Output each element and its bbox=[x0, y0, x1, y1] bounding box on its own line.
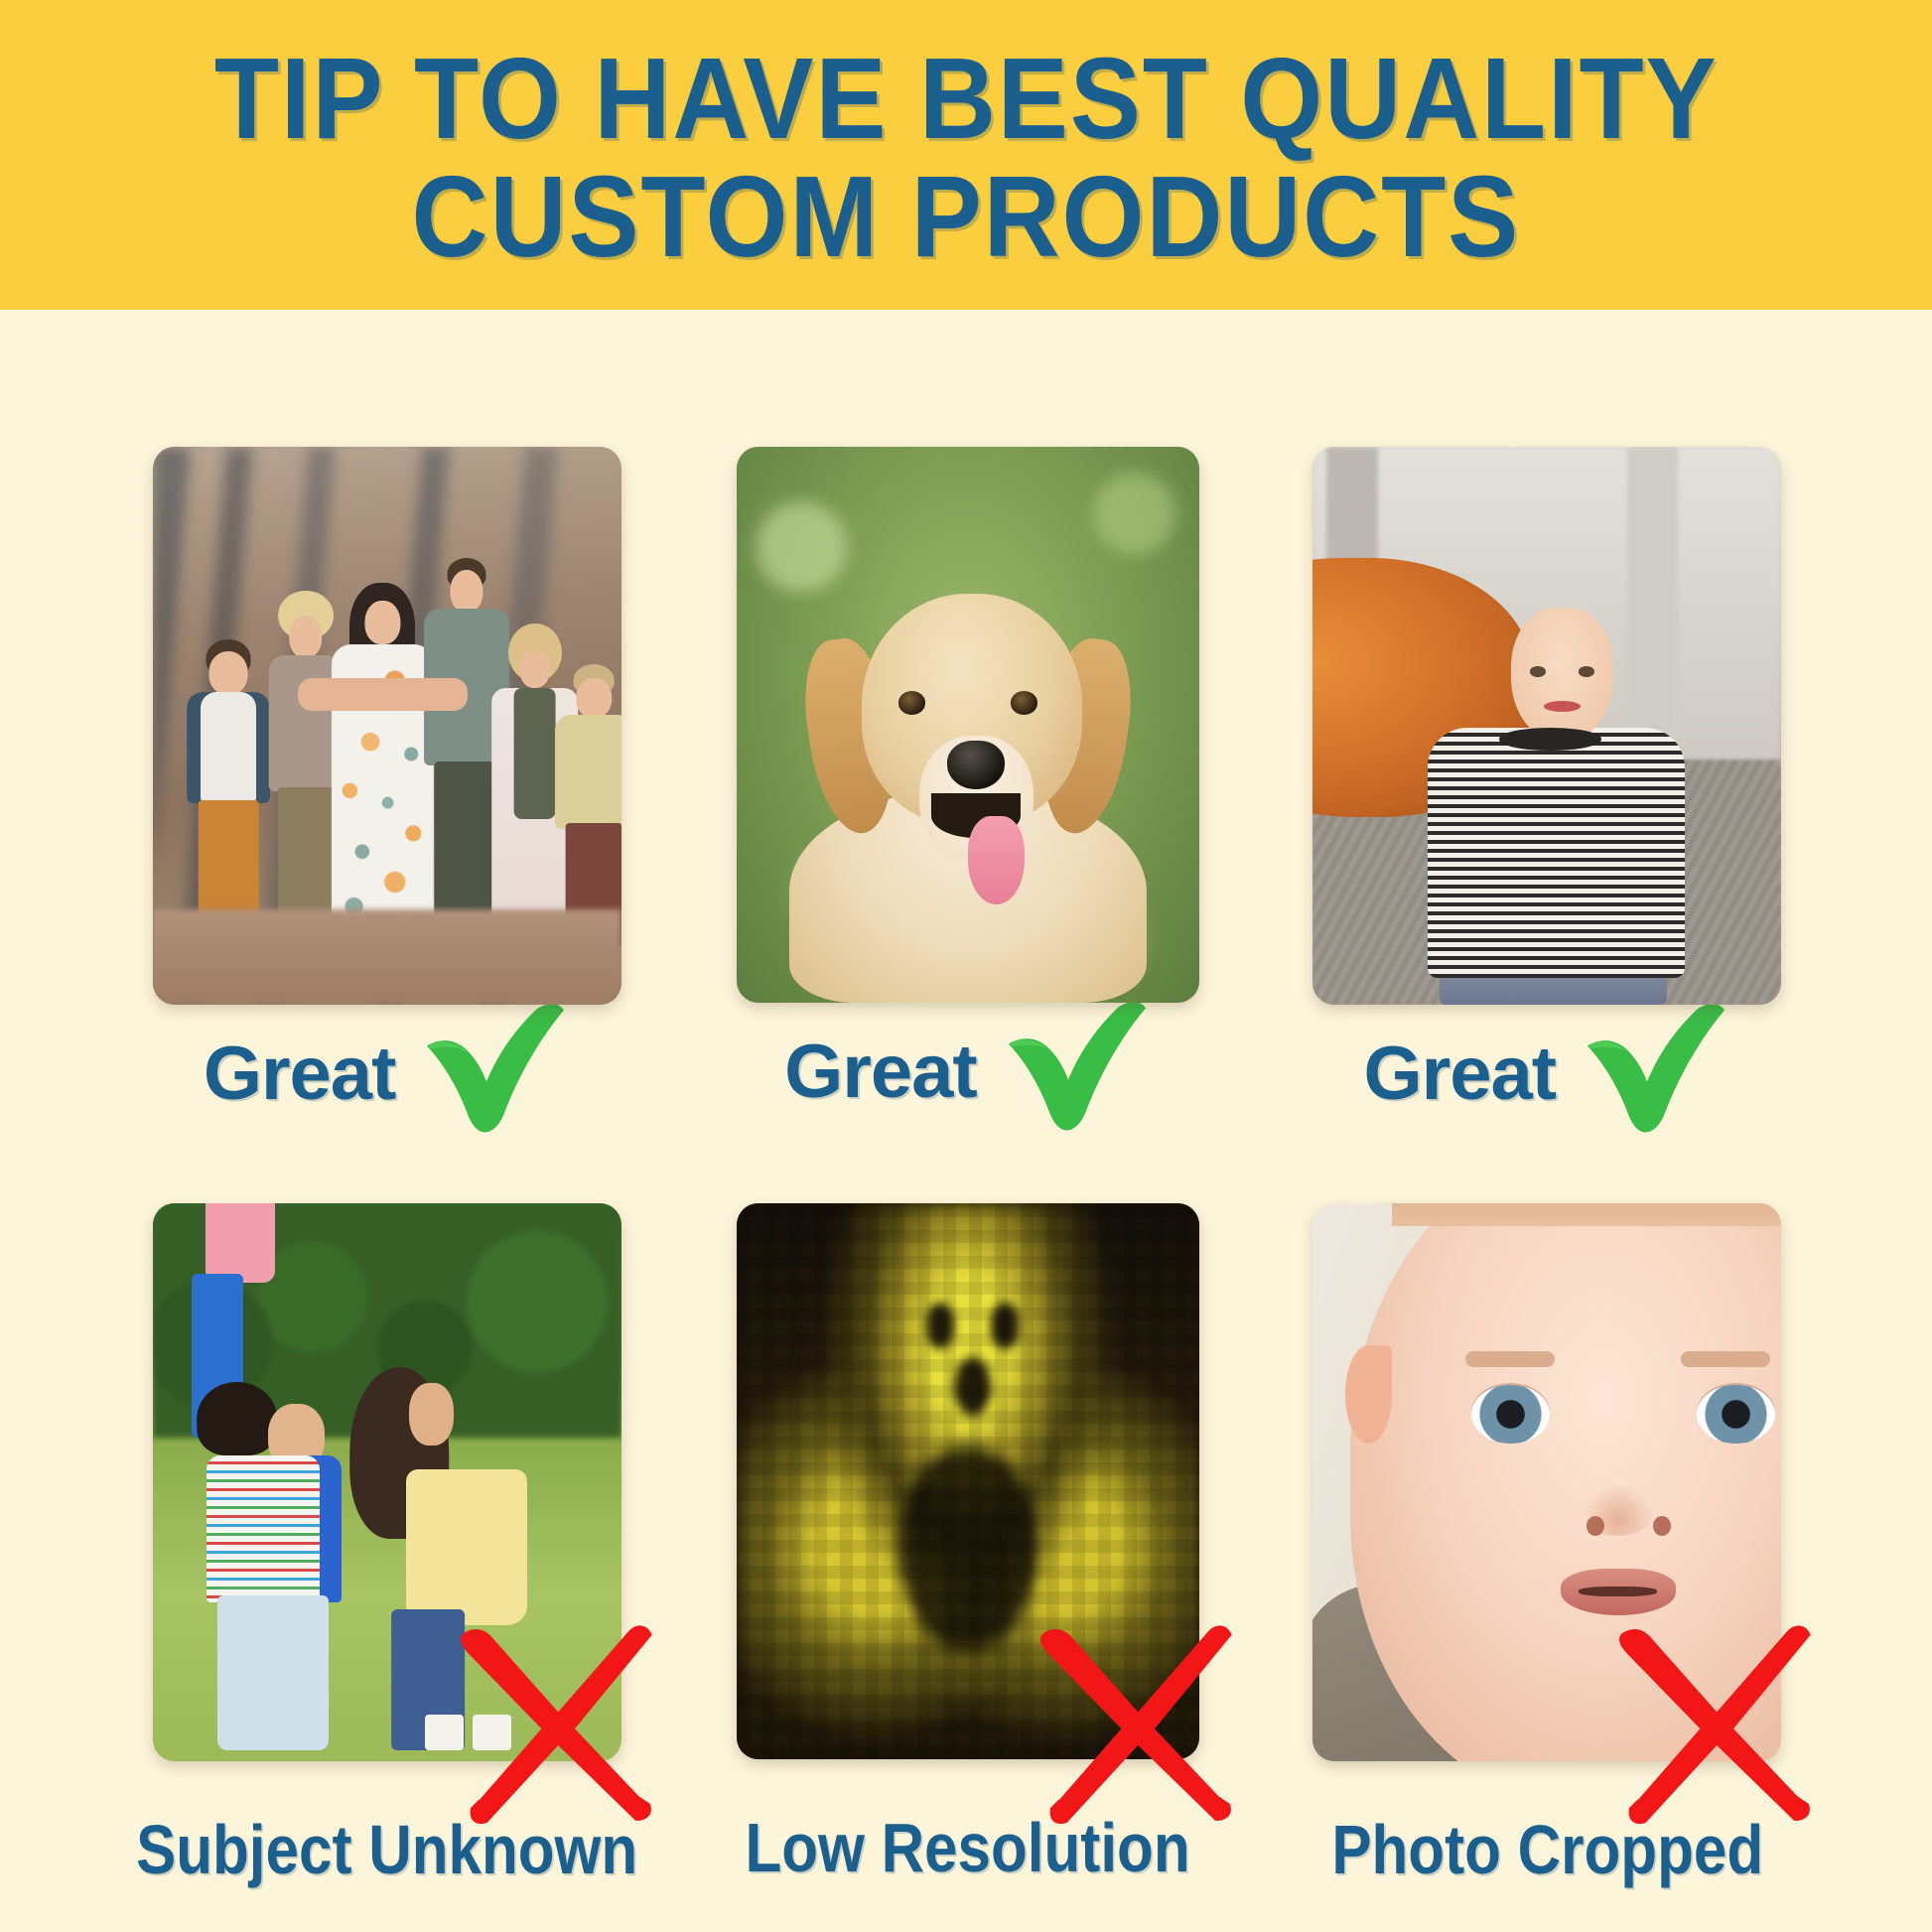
caption-label: Great bbox=[784, 1035, 977, 1110]
photo-low-resolution-dog[interactable] bbox=[737, 1203, 1199, 1759]
caption-label: Low Resolution bbox=[746, 1813, 1190, 1882]
family-member bbox=[550, 664, 621, 949]
woman-subject bbox=[1397, 558, 1697, 1005]
example-cell-family: Great bbox=[95, 310, 678, 1134]
caption-row: Low Resolution bbox=[678, 1793, 1257, 1902]
caption-row: Great bbox=[95, 1015, 678, 1134]
photo-cropped-baby-face[interactable] bbox=[1312, 1203, 1781, 1761]
child-subject bbox=[387, 1359, 546, 1749]
caption-row: Photo Cropped bbox=[1258, 1795, 1837, 1904]
photo-red-haired-woman-portrait[interactable] bbox=[1312, 447, 1781, 1005]
page-title-line-1: TIP TO HAVE BEST QUALITY bbox=[214, 40, 1719, 158]
caption-row: Great bbox=[1258, 1015, 1837, 1134]
check-mark-icon bbox=[421, 1000, 570, 1149]
header-banner: TIP TO HAVE BEST QUALITY CUSTOM PRODUCTS bbox=[0, 0, 1932, 310]
caption-label: Great bbox=[204, 1036, 396, 1112]
photo-family-group-portrait[interactable] bbox=[153, 447, 621, 1005]
caption-row: Subject Unknown bbox=[95, 1795, 678, 1904]
caption-label: Great bbox=[1364, 1036, 1557, 1112]
pixelation-overlay bbox=[737, 1203, 1199, 1759]
check-mark-icon bbox=[1003, 998, 1152, 1147]
photo-children-running-away[interactable] bbox=[153, 1203, 621, 1761]
check-mark-icon bbox=[1582, 1000, 1730, 1149]
example-cell-low-resolution: Low Resolution bbox=[678, 1134, 1257, 1932]
example-cell-woman: Great bbox=[1258, 310, 1837, 1134]
examples-grid: Great bbox=[0, 310, 1932, 1932]
example-cell-subject-unknown: Subject Unknown bbox=[95, 1134, 678, 1932]
example-cell-photo-cropped: Photo Cropped bbox=[1258, 1134, 1837, 1932]
caption-label: Subject Unknown bbox=[136, 1815, 637, 1884]
caption-row: Great bbox=[678, 1013, 1257, 1132]
child-subject bbox=[190, 1382, 358, 1750]
baby-subject bbox=[1350, 1203, 1781, 1761]
page-title-line-2: CUSTOM PRODUCTS bbox=[412, 158, 1521, 276]
photo-golden-retriever-portrait[interactable] bbox=[737, 447, 1199, 1003]
caption-label: Photo Cropped bbox=[1331, 1815, 1763, 1884]
dog-subject bbox=[764, 558, 1172, 1003]
example-cell-dog: Great bbox=[678, 310, 1257, 1134]
